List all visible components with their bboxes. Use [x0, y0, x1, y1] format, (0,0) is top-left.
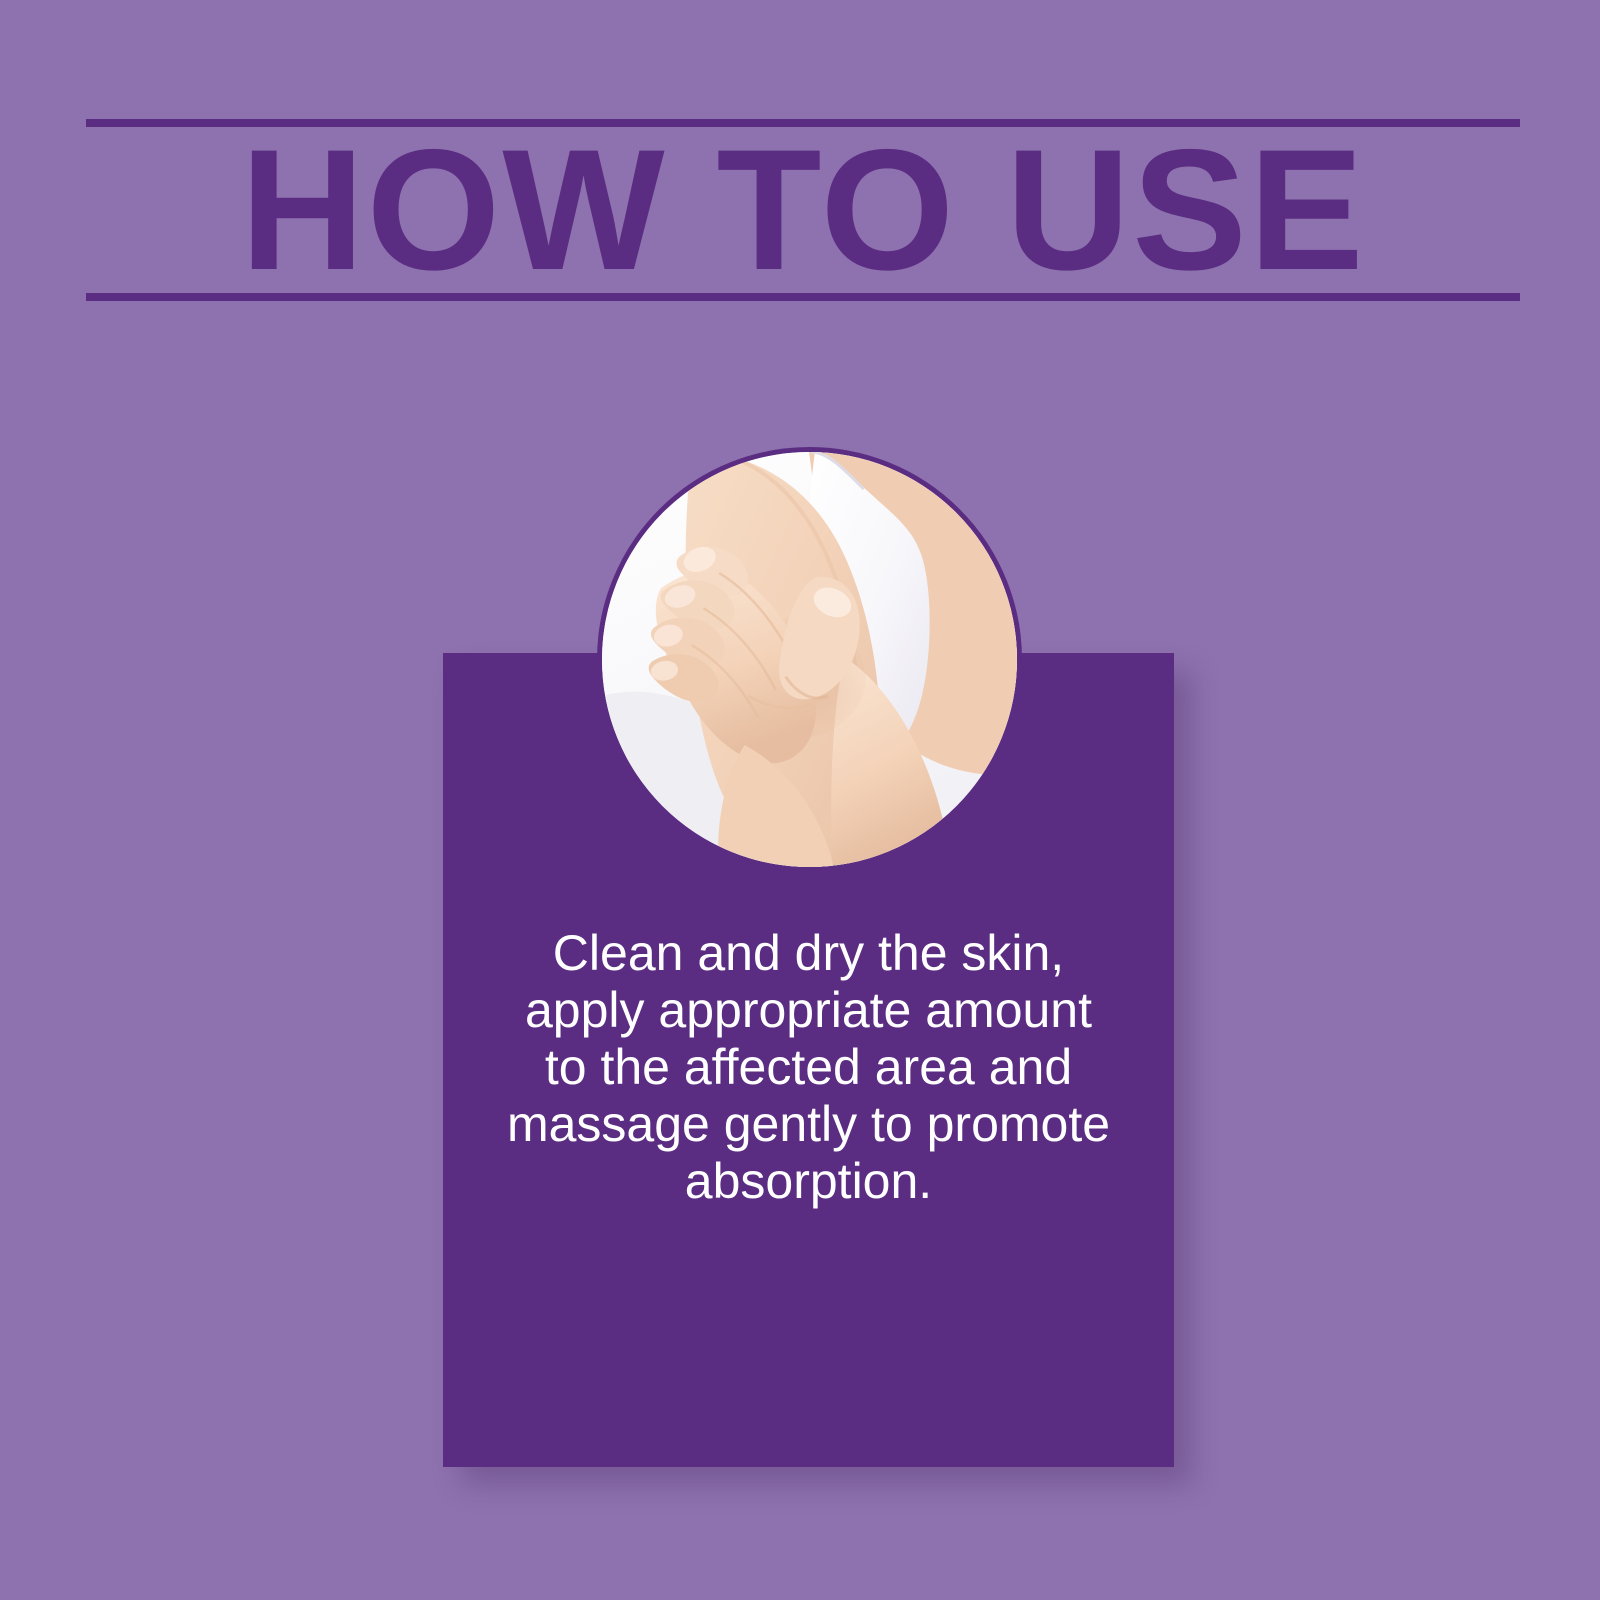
elbow-massage-photo [597, 447, 1022, 872]
instruction-line: apply appropriate amount [483, 982, 1134, 1039]
how-to-use-poster: HOW TO USE Clean and dry the skin, apply… [0, 0, 1600, 1600]
instruction-text: Clean and dry the skin, apply appropriat… [483, 925, 1134, 1210]
page-title: HOW TO USE [86, 119, 1520, 301]
instruction-line: absorption. [483, 1153, 1134, 1210]
instruction-line: massage gently to promote [483, 1096, 1134, 1153]
instruction-line: Clean and dry the skin, [483, 925, 1134, 982]
header-bottom-rule [86, 293, 1520, 301]
photo-illustration [602, 452, 1017, 867]
header: HOW TO USE [86, 119, 1520, 301]
instruction-line: to the affected area and [483, 1039, 1134, 1096]
